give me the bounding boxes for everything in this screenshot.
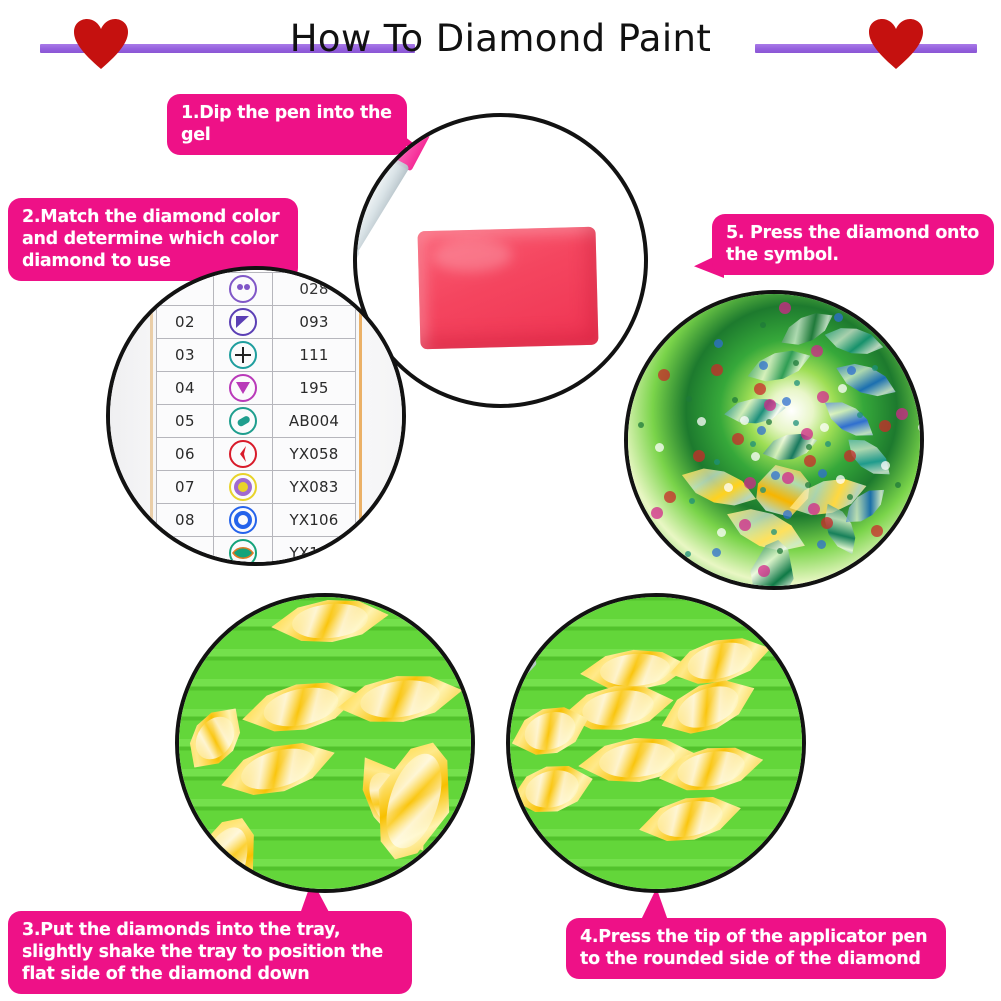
canvas-rhinestone	[822, 322, 886, 360]
canvas-rhinestone	[743, 342, 814, 389]
slash-oval-icon	[214, 405, 273, 438]
canvas-printed-symbol	[820, 423, 829, 432]
filled-triangle-icon	[214, 372, 273, 405]
canvas-rhinestones	[628, 294, 920, 586]
chart-cell-code: YX083	[273, 471, 356, 504]
triangle-icon	[214, 306, 273, 339]
paper-edge-left	[150, 270, 153, 562]
canvas-printed-symbol	[896, 408, 908, 420]
canvas-printed-symbol	[766, 419, 772, 425]
chart-cell-code: 093	[273, 306, 356, 339]
chart-row: 04195	[157, 372, 356, 405]
canvas-printed-symbol	[759, 361, 768, 370]
canvas-printed-symbol	[805, 482, 811, 488]
canvas-printed-symbol	[779, 302, 791, 314]
chart-cell-code: 028	[273, 273, 356, 306]
chart-cell-code: AB004	[273, 405, 356, 438]
chart-row: 08YX106	[157, 504, 356, 537]
color-chart-table: 02802093031110419505AB00406YX05807YX0830…	[156, 272, 356, 566]
canvas-printed-symbol	[686, 396, 692, 402]
canvas-printed-symbol	[754, 383, 766, 395]
ring-dot-icon	[214, 471, 273, 504]
leaf-icon	[214, 537, 273, 567]
chart-cell-code: 111	[273, 339, 356, 372]
canvas-printed-symbol	[879, 420, 891, 432]
canvas-printed-symbol	[794, 380, 800, 386]
chart-row: 02093	[157, 306, 356, 339]
canvas-printed-symbol	[751, 452, 760, 461]
canvas-printed-symbol	[717, 528, 726, 537]
canvas-printed-symbol	[712, 548, 721, 557]
plus-icon	[214, 339, 273, 372]
step-label-5: 5. Press the diamond onto the symbol.	[712, 214, 994, 275]
chart-row: 06YX058	[157, 438, 356, 471]
canvas-printed-symbol	[817, 540, 826, 549]
paper-edge-right	[359, 270, 362, 562]
canvas-printed-symbol	[757, 426, 766, 435]
canvas-printed-symbol	[847, 494, 853, 500]
gel-pad	[417, 227, 598, 350]
canvas-printed-symbol	[711, 364, 723, 376]
chart-cell-code: 195	[273, 372, 356, 405]
photo-placing-diamond-on-canvas	[624, 290, 924, 590]
chart-cell-code: YX125	[273, 537, 356, 567]
canvas-printed-symbol	[820, 580, 826, 586]
canvas-printed-symbol	[664, 491, 676, 503]
canvas-printed-symbol	[834, 313, 843, 322]
chart-row: 05AB004	[157, 405, 356, 438]
canvas-printed-symbol	[825, 441, 831, 447]
chart-cell-number: 02	[157, 306, 214, 339]
canvas-printed-symbol	[744, 477, 756, 489]
step-label-4: 4.Press the tip of the applicator pen to…	[566, 918, 946, 979]
canvas-printed-symbol	[801, 428, 813, 440]
canvas-printed-symbol	[732, 397, 738, 403]
page-title: How To Diamond Paint	[0, 17, 1001, 60]
canvas-printed-symbol	[811, 345, 823, 357]
canvas-printed-symbol	[872, 365, 878, 371]
canvas-printed-symbol	[817, 391, 829, 403]
canvas-printed-symbol	[782, 472, 794, 484]
chart-row: 028	[157, 273, 356, 306]
canvas-printed-symbol	[685, 551, 691, 557]
canvas-printed-symbol	[895, 482, 901, 488]
canvas-printed-symbol	[881, 461, 890, 470]
canvas-printed-symbol	[740, 416, 749, 425]
callout-tail-step-4	[640, 888, 670, 922]
chart-cell-number: 06	[157, 438, 214, 471]
chart-cell-number	[157, 273, 214, 306]
page-header: How To Diamond Paint	[0, 0, 1001, 85]
chart-cell-number: 09	[157, 537, 214, 567]
step-label-3: 3.Put the diamonds into the tray, slight…	[8, 911, 412, 994]
chart-cell-code: YX106	[273, 504, 356, 537]
chart-row: 07YX083	[157, 471, 356, 504]
chart-row: 03111	[157, 339, 356, 372]
chart-cell-code: YX058	[273, 438, 356, 471]
canvas-printed-symbol	[655, 443, 664, 452]
chevron-left-icon	[214, 438, 273, 471]
chart-cell-number: 07	[157, 471, 214, 504]
chart-cell-number: 08	[157, 504, 214, 537]
chart-row: 09YX125	[157, 537, 356, 567]
canvas-printed-symbol	[793, 360, 799, 366]
canvas-printed-symbol	[804, 455, 816, 467]
canvas-printed-symbol	[870, 552, 879, 561]
chart-cell-number: 05	[157, 405, 214, 438]
double-dot-icon	[214, 273, 273, 306]
canvas-printed-symbol	[782, 397, 791, 406]
canvas-printed-symbol	[658, 369, 670, 381]
photo-pen-picking-diamond	[506, 593, 806, 893]
canvas-printed-symbol	[638, 422, 644, 428]
canvas-rhinestone	[831, 355, 901, 405]
canvas-printed-symbol	[916, 479, 922, 485]
canvas-printed-symbol	[689, 498, 695, 504]
canvas-printed-symbol	[847, 366, 856, 375]
canvas-printed-symbol	[771, 529, 777, 535]
canvas-printed-symbol	[818, 469, 827, 478]
canvas-printed-symbol	[714, 459, 720, 465]
canvas-printed-symbol	[844, 450, 856, 462]
canvas-printed-symbol	[838, 384, 847, 393]
canvas-printed-symbol	[750, 441, 756, 447]
chart-cell-number: 03	[157, 339, 214, 372]
photo-diamonds-in-tray	[175, 593, 475, 893]
canvas-printed-symbol	[760, 322, 766, 328]
canvas-printed-symbol	[764, 399, 776, 411]
canvas-printed-symbol	[693, 450, 705, 462]
canvas-printed-symbol	[871, 525, 883, 537]
chart-cell-number: 04	[157, 372, 214, 405]
canvas-printed-symbol	[918, 423, 924, 432]
canvas-printed-symbol	[697, 417, 706, 426]
canvas-printed-symbol	[651, 507, 663, 519]
canvas-printed-symbol	[806, 444, 812, 450]
canvas-printed-symbol	[783, 510, 792, 519]
canvas-printed-symbol	[714, 339, 723, 348]
open-circle-icon	[214, 504, 273, 537]
canvas-printed-symbol	[777, 548, 783, 554]
photo-color-chart: 02802093031110419505AB00406YX05807YX0830…	[106, 266, 406, 566]
canvas-printed-symbol	[732, 433, 744, 445]
canvas-printed-symbol	[793, 420, 799, 426]
pen-body	[353, 148, 410, 271]
canvas-printed-symbol	[808, 503, 820, 515]
